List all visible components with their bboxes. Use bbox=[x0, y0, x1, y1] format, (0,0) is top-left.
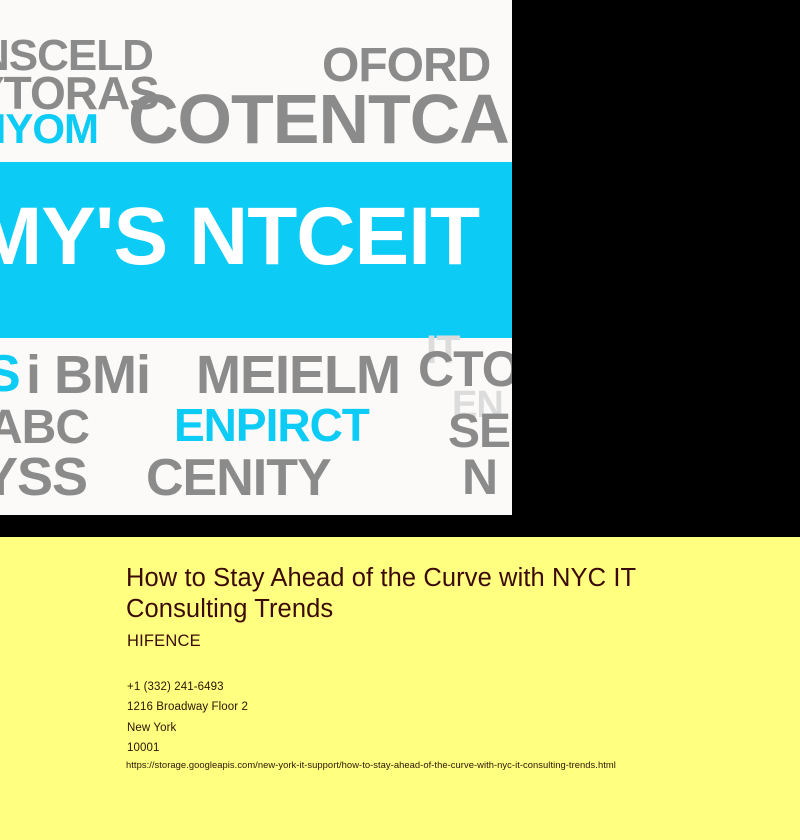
cloud-word-enpirct: ENPIRCT bbox=[174, 402, 369, 448]
contact-city: New York bbox=[127, 718, 747, 738]
page-title: How to Stay Ahead of the Curve with NYC … bbox=[126, 563, 746, 625]
cloud-word-mys-ntceit: MY'S NTCEIT bbox=[0, 196, 479, 278]
content-card: How to Stay Ahead of the Curve with NYC … bbox=[0, 537, 800, 840]
contact-street: 1216 Broadway Floor 2 bbox=[127, 697, 747, 717]
contact-zip: 10001 bbox=[127, 738, 747, 758]
cloud-word-ibmi: i BMi bbox=[26, 348, 150, 402]
cloud-word-cotentca: COTENTCA bbox=[128, 84, 509, 154]
cloud-word-cenity: CENITY bbox=[146, 452, 331, 504]
contact-block: +1 (332) 241-6493 1216 Broadway Floor 2 … bbox=[127, 677, 747, 759]
cloud-word-yss: YSS bbox=[0, 450, 87, 504]
brand-name: HIFENCE bbox=[127, 632, 201, 651]
source-url[interactable]: https://storage.googleapis.com/new-york-… bbox=[126, 759, 616, 770]
cloud-word-abc: ABC bbox=[0, 404, 89, 452]
cloud-word-meielm: MEIELM bbox=[196, 348, 400, 402]
cloud-word-n: N bbox=[462, 452, 497, 502]
cloud-word-s: S bbox=[0, 348, 20, 400]
cloud-word-cto: CTO bbox=[418, 344, 512, 394]
hero-word-cloud-image: IT EN NSCELD YTORAS NYOM OFORD COTENTCA … bbox=[0, 0, 512, 515]
cloud-word-nyom: NYOM bbox=[0, 108, 98, 150]
page-root: IT EN NSCELD YTORAS NYOM OFORD COTENTCA … bbox=[0, 0, 800, 840]
contact-phone: +1 (332) 241-6493 bbox=[127, 677, 747, 697]
